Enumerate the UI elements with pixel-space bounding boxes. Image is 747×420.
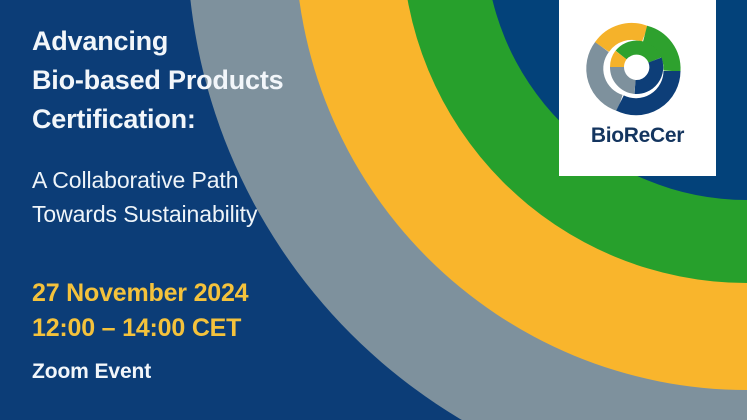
event-type-label: Zoom Event xyxy=(32,360,151,384)
logo-card: BioReCer xyxy=(559,0,716,176)
logo-arc-grey-inner xyxy=(617,67,635,87)
logo-arc-green-inner xyxy=(621,48,655,60)
page-title: Advancing Bio-based Products Certificati… xyxy=(32,22,432,139)
logo-arc-navy-inner xyxy=(635,60,656,87)
logo-wordmark: BioReCer xyxy=(559,124,716,148)
biorecer-spiral-logo-icon xyxy=(583,14,693,117)
event-time: 12:00 – 14:00 CET xyxy=(32,311,241,347)
event-date: 27 November 2024 xyxy=(32,276,248,312)
event-poster: Advancing Bio-based Products Certificati… xyxy=(0,0,747,420)
page-subtitle: A Collaborative Path Towards Sustainabil… xyxy=(32,163,432,231)
logo-arc-yellow-inner xyxy=(617,55,621,67)
